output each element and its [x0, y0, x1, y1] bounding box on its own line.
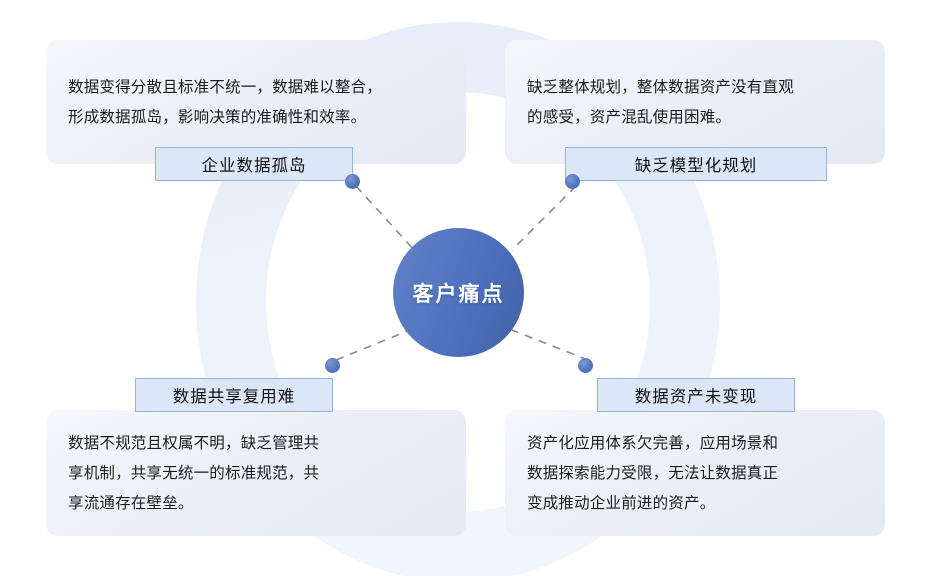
center-hub: 客户痛点: [393, 228, 524, 357]
diagram-canvas: 数据变得分散且标准不统一，数据难以整合， 形成数据孤岛，影响决策的准确性和效率。…: [0, 0, 937, 576]
description-card-bottom-right: 资产化应用体系欠完善，应用场景和 数据探索能力受限，无法让数据真正 变成推动企业…: [505, 410, 885, 536]
description-card-bottom-left: 数据不规范且权属不明，缺乏管理共 享机制，共享无统一的标准规范，共 享流通存在壁…: [46, 410, 466, 536]
node-dot-bottom-right: [578, 358, 593, 373]
node-label-text: 企业数据孤岛: [202, 152, 307, 176]
node-dot-bottom-left: [325, 358, 340, 373]
description-card-top-right: 缺乏整体规划，整体数据资产没有直观 的感受，资产混乱使用困难。: [505, 40, 885, 164]
node-label-text: 数据资产未变现: [635, 383, 758, 407]
node-dot-top-left: [345, 174, 360, 189]
node-dot-top-right: [565, 174, 580, 189]
center-hub-label: 客户痛点: [413, 278, 505, 308]
node-label-text: 缺乏模型化规划: [635, 152, 758, 176]
node-label-text: 数据共享复用难: [173, 383, 296, 407]
connector-line-bottom-right: [512, 330, 588, 360]
connector-line-top-right: [512, 186, 576, 250]
connector-line-bottom-left: [336, 330, 410, 360]
connector-line-top-left: [356, 186, 415, 251]
node-label-bottom-left[interactable]: 数据共享复用难: [135, 378, 333, 412]
node-label-bottom-right[interactable]: 数据资产未变现: [597, 378, 795, 412]
description-text: 数据变得分散且标准不统一，数据难以整合， 形成数据孤岛，影响决策的准确性和效率。: [68, 72, 382, 132]
description-card-top-left: 数据变得分散且标准不统一，数据难以整合， 形成数据孤岛，影响决策的准确性和效率。: [46, 40, 466, 164]
node-label-top-left[interactable]: 企业数据孤岛: [155, 147, 353, 181]
description-text: 缺乏整体规划，整体数据资产没有直观 的感受，资产混乱使用困难。: [527, 72, 794, 132]
description-text: 资产化应用体系欠完善，应用场景和 数据探索能力受限，无法让数据真正 变成推动企业…: [527, 428, 778, 518]
description-text: 数据不规范且权属不明，缺乏管理共 享机制，共享无统一的标准规范，共 享流通存在壁…: [68, 428, 319, 518]
node-label-top-right[interactable]: 缺乏模型化规划: [565, 147, 827, 181]
